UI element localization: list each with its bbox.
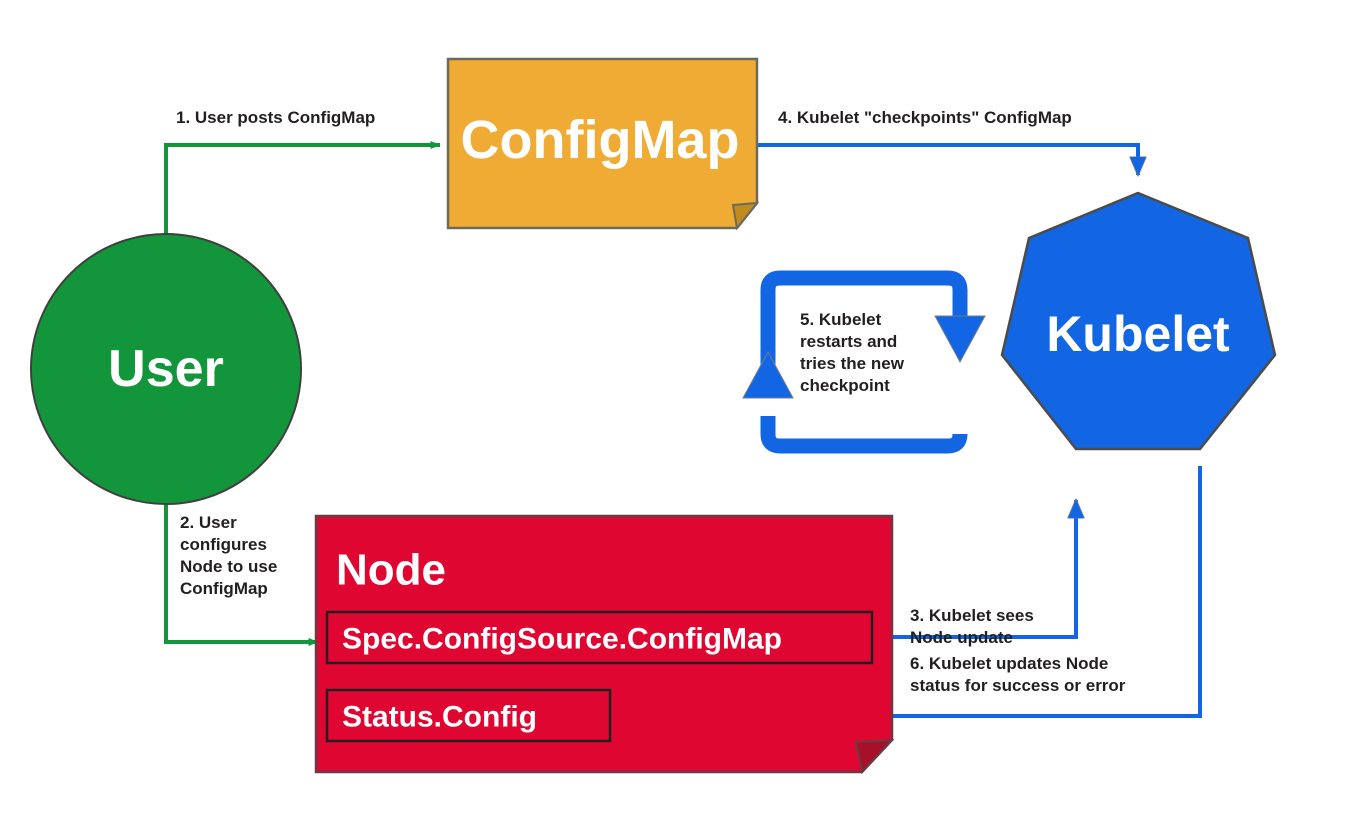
svg-text:2. User: 2. User <box>180 513 237 532</box>
node-kubelet[interactable]: Kubelet <box>1002 193 1275 449</box>
svg-text:Node to use: Node to use <box>180 557 277 576</box>
node-node[interactable]: Node Spec.ConfigSource.ConfigMap Status.… <box>316 516 892 772</box>
svg-text:restarts and: restarts and <box>800 332 897 351</box>
svg-text:ConfigMap: ConfigMap <box>180 579 268 598</box>
step-1-label: 1. User posts ConfigMap <box>176 108 375 127</box>
node-user[interactable]: User <box>31 234 301 504</box>
node-node-label: Node <box>336 546 446 595</box>
node-field-status-label: Status.Config <box>342 701 537 734</box>
node-field-status-config[interactable]: Status.Config <box>327 690 610 741</box>
node-configmap-label: ConfigMap <box>461 110 740 170</box>
svg-text:3. Kubelet sees: 3. Kubelet sees <box>910 606 1034 625</box>
kubelet-config-diagram: User ConfigMap Kubelet Node Spec.ConfigS… <box>0 0 1360 818</box>
connector-step-4 <box>757 145 1138 175</box>
svg-text:configures: configures <box>180 535 267 554</box>
node-kubelet-label: Kubelet <box>1046 306 1230 362</box>
node-user-label: User <box>108 340 224 398</box>
step-4-label: 4. Kubelet "checkpoints" ConfigMap <box>778 108 1072 127</box>
step-5-label: 5. Kubelet restarts and tries the new ch… <box>800 310 905 395</box>
diagram-canvas: User ConfigMap Kubelet Node Spec.ConfigS… <box>0 0 1360 818</box>
svg-text:Node update: Node update <box>910 628 1013 647</box>
svg-text:status for success or error: status for success or error <box>910 676 1126 695</box>
configmap-folded-corner <box>733 203 757 228</box>
step-6-label: 6. Kubelet updates Node status for succe… <box>910 654 1126 695</box>
svg-text:tries the new: tries the new <box>800 354 905 373</box>
svg-text:5. Kubelet: 5. Kubelet <box>800 310 882 329</box>
node-folded-corner <box>856 740 892 772</box>
node-field-spec-configsource-configmap[interactable]: Spec.ConfigSource.ConfigMap <box>327 612 872 663</box>
step-2-label: 2. User configures Node to use ConfigMap <box>180 513 277 598</box>
node-configmap[interactable]: ConfigMap <box>448 59 757 228</box>
node-field-spec-label: Spec.ConfigSource.ConfigMap <box>342 623 782 656</box>
svg-text:6. Kubelet updates Node: 6. Kubelet updates Node <box>910 654 1108 673</box>
step-3-label: 3. Kubelet sees Node update <box>910 606 1034 647</box>
svg-text:checkpoint: checkpoint <box>800 376 890 395</box>
